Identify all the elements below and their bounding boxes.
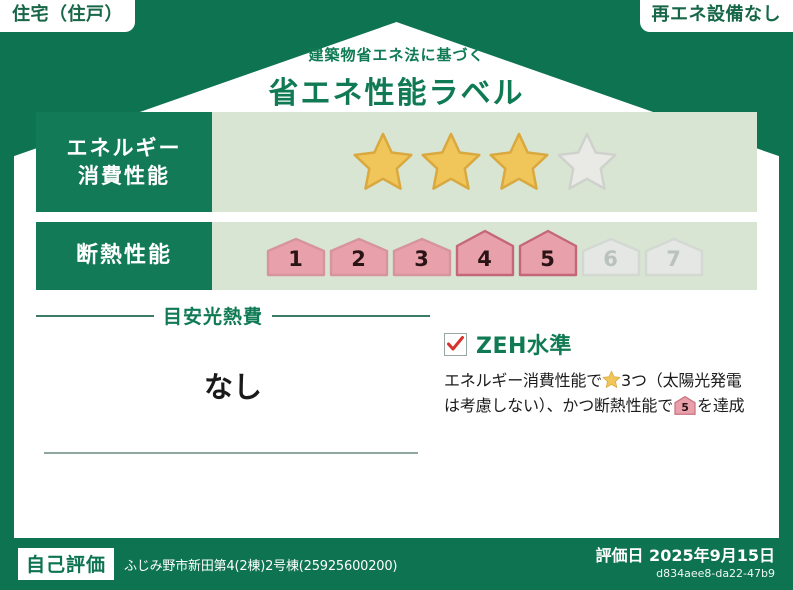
badge-renewable-equipment: 再エネ設備なし (640, 0, 793, 32)
footer-left: 自己評価 ふじみ野市新田第4(2棟)2号棟(25925600200) (18, 548, 595, 580)
property-address: ふじみ野市新田第4(2棟)2号棟(25925600200) (124, 555, 397, 574)
inline-star-icon (602, 370, 621, 389)
zeh-desc-part4: を達成 (697, 396, 744, 415)
insulation-grade-7: 7 (644, 237, 704, 277)
star-filled-icon (350, 129, 416, 195)
insulation-grade-1: 1 (266, 237, 326, 277)
star-filled-icon (418, 129, 484, 195)
check-icon (447, 336, 464, 353)
evaluation-date: 評価日 2025年9月15日 (595, 546, 775, 567)
utility-cost-underline (44, 452, 418, 454)
energy-performance-label: エネルギー 消費性能 (36, 112, 212, 212)
inline-grade-number: 5 (681, 401, 688, 414)
insulation-grade-4: 4 (455, 229, 515, 277)
lower-section: 目安光熱費 なし ZEH水準 エネルギー消費性能で (36, 302, 757, 419)
insulation-grade-number: 3 (392, 247, 452, 271)
insulation-grade-5: 5 (518, 229, 578, 277)
star-rating (350, 129, 620, 195)
zeh-header: ZEH水準 (444, 328, 757, 360)
energy-label-line2: 消費性能 (78, 162, 170, 190)
insulation-grade-2: 2 (329, 237, 389, 277)
zeh-checkbox[interactable] (444, 333, 467, 356)
energy-performance-label: 住宅（住戸） 再エネ設備なし 建築物省エネ法に基づく 省エネ性能ラベル エネルギ… (0, 0, 793, 590)
content-area: エネルギー 消費性能 断熱性能 1234567 目安光熱費 なし (36, 112, 757, 522)
zeh-panel: ZEH水準 エネルギー消費性能で 3つ（太陽光発電 は考慮しない）、かつ断熱性能… (430, 302, 757, 419)
zeh-description: エネルギー消費性能で 3つ（太陽光発電 は考慮しない）、かつ断熱性能で 5 を達… (444, 369, 757, 419)
inline-grade-badge: 5 (673, 395, 697, 415)
page-title: 省エネ性能ラベル (0, 68, 793, 112)
utility-cost-header: 目安光熱費 (36, 302, 430, 329)
zeh-desc-part3: は考慮しない）、かつ断熱性能で (444, 396, 673, 415)
badge-building-type: 住宅（住戸） (0, 0, 135, 32)
label-subtitle: 建築物省エネ法に基づく (0, 44, 793, 65)
utility-cost-value: なし (36, 364, 430, 406)
insulation-grade-number: 5 (518, 247, 578, 271)
insulation-grade-number: 7 (644, 247, 704, 271)
insulation-grade-number: 6 (581, 247, 641, 271)
footer-right: 評価日 2025年9月15日 d834aee8-da22-47b9 (595, 546, 775, 581)
insulation-grade-6: 6 (581, 237, 641, 277)
energy-performance-value (212, 112, 757, 212)
insulation-grade-number: 2 (329, 247, 389, 271)
divider-left (36, 315, 154, 317)
title-block: 建築物省エネ法に基づく 省エネ性能ラベル (0, 44, 793, 112)
star-empty-icon (554, 129, 620, 195)
document-id: d834aee8-da22-47b9 (595, 567, 775, 581)
insulation-grade-number: 1 (266, 247, 326, 271)
utility-cost-panel: 目安光熱費 なし (36, 302, 430, 419)
zeh-title: ZEH水準 (476, 328, 572, 360)
energy-performance-row: エネルギー 消費性能 (36, 112, 757, 212)
divider-right (272, 315, 430, 317)
self-evaluation-badge: 自己評価 (18, 548, 114, 580)
insulation-performance-label: 断熱性能 (36, 222, 212, 290)
insulation-grade-number: 4 (455, 247, 515, 271)
zeh-desc-part2: 3つ（太陽光発電 (621, 371, 742, 390)
insulation-performance-row: 断熱性能 1234567 (36, 222, 757, 290)
footer: 自己評価 ふじみ野市新田第4(2棟)2号棟(25925600200) 評価日 2… (0, 538, 793, 590)
insulation-grade-scale: 1234567 (266, 229, 704, 283)
star-filled-icon (486, 129, 552, 195)
zeh-desc-part1: エネルギー消費性能で (444, 371, 602, 390)
utility-cost-title: 目安光熱費 (163, 302, 263, 329)
insulation-performance-value: 1234567 (212, 222, 757, 290)
energy-label-line1: エネルギー (67, 134, 182, 162)
insulation-grade-3: 3 (392, 237, 452, 277)
